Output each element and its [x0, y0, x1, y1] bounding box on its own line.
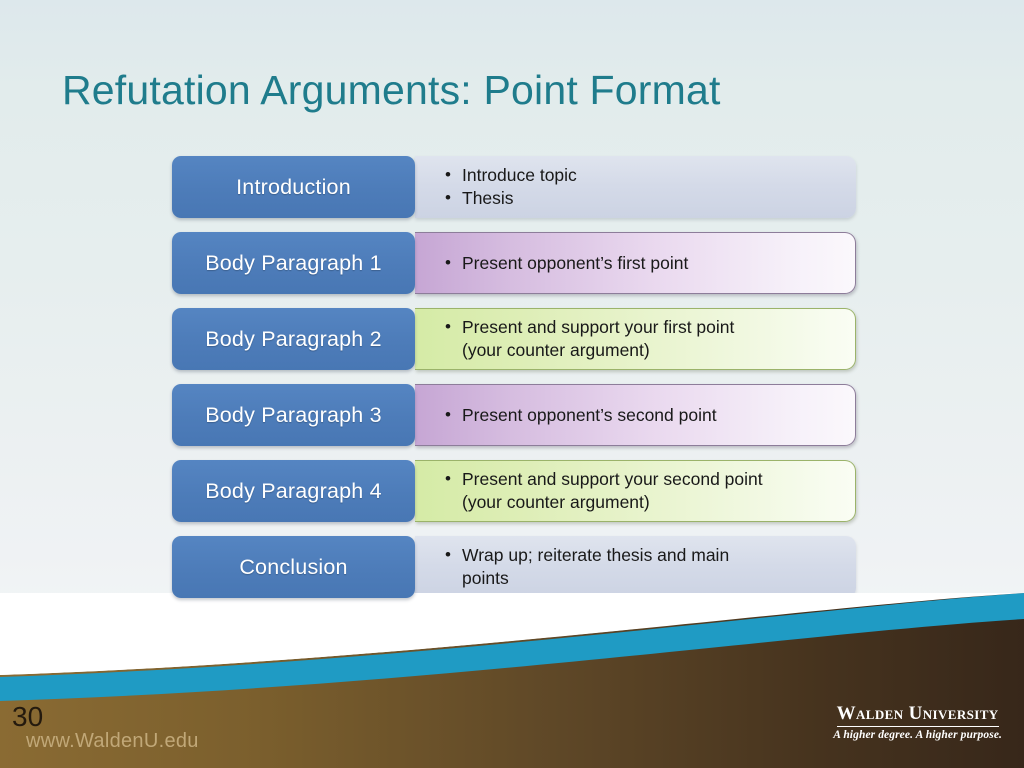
list-item: Present opponent’s second point: [445, 404, 841, 427]
row-label-body-paragraph-2[interactable]: Body Paragraph 2: [172, 308, 415, 370]
process-diagram: Introduction Introduce topic Thesis Body…: [172, 156, 856, 598]
row-label-body-paragraph-4[interactable]: Body Paragraph 4: [172, 460, 415, 522]
row-content-introduction[interactable]: Introduce topic Thesis: [415, 156, 856, 218]
table-row: Body Paragraph 2 Present and support you…: [172, 308, 856, 370]
table-row: Introduction Introduce topic Thesis: [172, 156, 856, 218]
list-item: Wrap up; reiterate thesis and main: [445, 544, 842, 567]
logo-name: Walden University: [837, 703, 999, 727]
walden-university-logo: Walden University A higher degree. A hig…: [833, 703, 1002, 741]
row-label-introduction[interactable]: Introduction: [172, 156, 415, 218]
row-label-conclusion[interactable]: Conclusion: [172, 536, 415, 598]
row-label-text: Body Paragraph 1: [205, 251, 382, 276]
table-row: Body Paragraph 3 Present opponent’s seco…: [172, 384, 856, 446]
logo-tagline: A higher degree. A higher purpose.: [833, 729, 1002, 741]
row-content-body-paragraph-1[interactable]: Present opponent’s first point: [415, 232, 856, 294]
page-title: Refutation Arguments: Point Format: [62, 67, 721, 114]
table-row: Conclusion Wrap up; reiterate thesis and…: [172, 536, 856, 598]
footer-url[interactable]: www.WaldenU.edu: [26, 730, 199, 753]
row-label-text: Body Paragraph 4: [205, 479, 382, 504]
row-content-body-paragraph-3[interactable]: Present opponent’s second point: [415, 384, 856, 446]
list-item: Thesis: [445, 187, 842, 210]
row-label-text: Conclusion: [239, 555, 347, 580]
slide-canvas: Refutation Arguments: Point Format Intro…: [0, 0, 1024, 768]
list-item: Present and support your second point: [445, 468, 841, 491]
row-label-body-paragraph-3[interactable]: Body Paragraph 3: [172, 384, 415, 446]
list-item-continuation: (your counter argument): [445, 491, 841, 514]
list-item-continuation: points: [445, 567, 842, 590]
list-item: Introduce topic: [445, 164, 842, 187]
row-label-text: Introduction: [236, 175, 351, 200]
table-row: Body Paragraph 4 Present and support you…: [172, 460, 856, 522]
list-item-continuation: (your counter argument): [445, 339, 841, 362]
row-label-text: Body Paragraph 3: [205, 403, 382, 428]
row-label-text: Body Paragraph 2: [205, 327, 382, 352]
page-number: 30: [12, 701, 43, 733]
row-content-body-paragraph-2[interactable]: Present and support your first point (yo…: [415, 308, 856, 370]
list-item: Present and support your first point: [445, 316, 841, 339]
row-content-conclusion[interactable]: Wrap up; reiterate thesis and main point…: [415, 536, 856, 598]
row-label-body-paragraph-1[interactable]: Body Paragraph 1: [172, 232, 415, 294]
list-item: Present opponent’s first point: [445, 252, 841, 275]
row-content-body-paragraph-4[interactable]: Present and support your second point (y…: [415, 460, 856, 522]
table-row: Body Paragraph 1 Present opponent’s firs…: [172, 232, 856, 294]
